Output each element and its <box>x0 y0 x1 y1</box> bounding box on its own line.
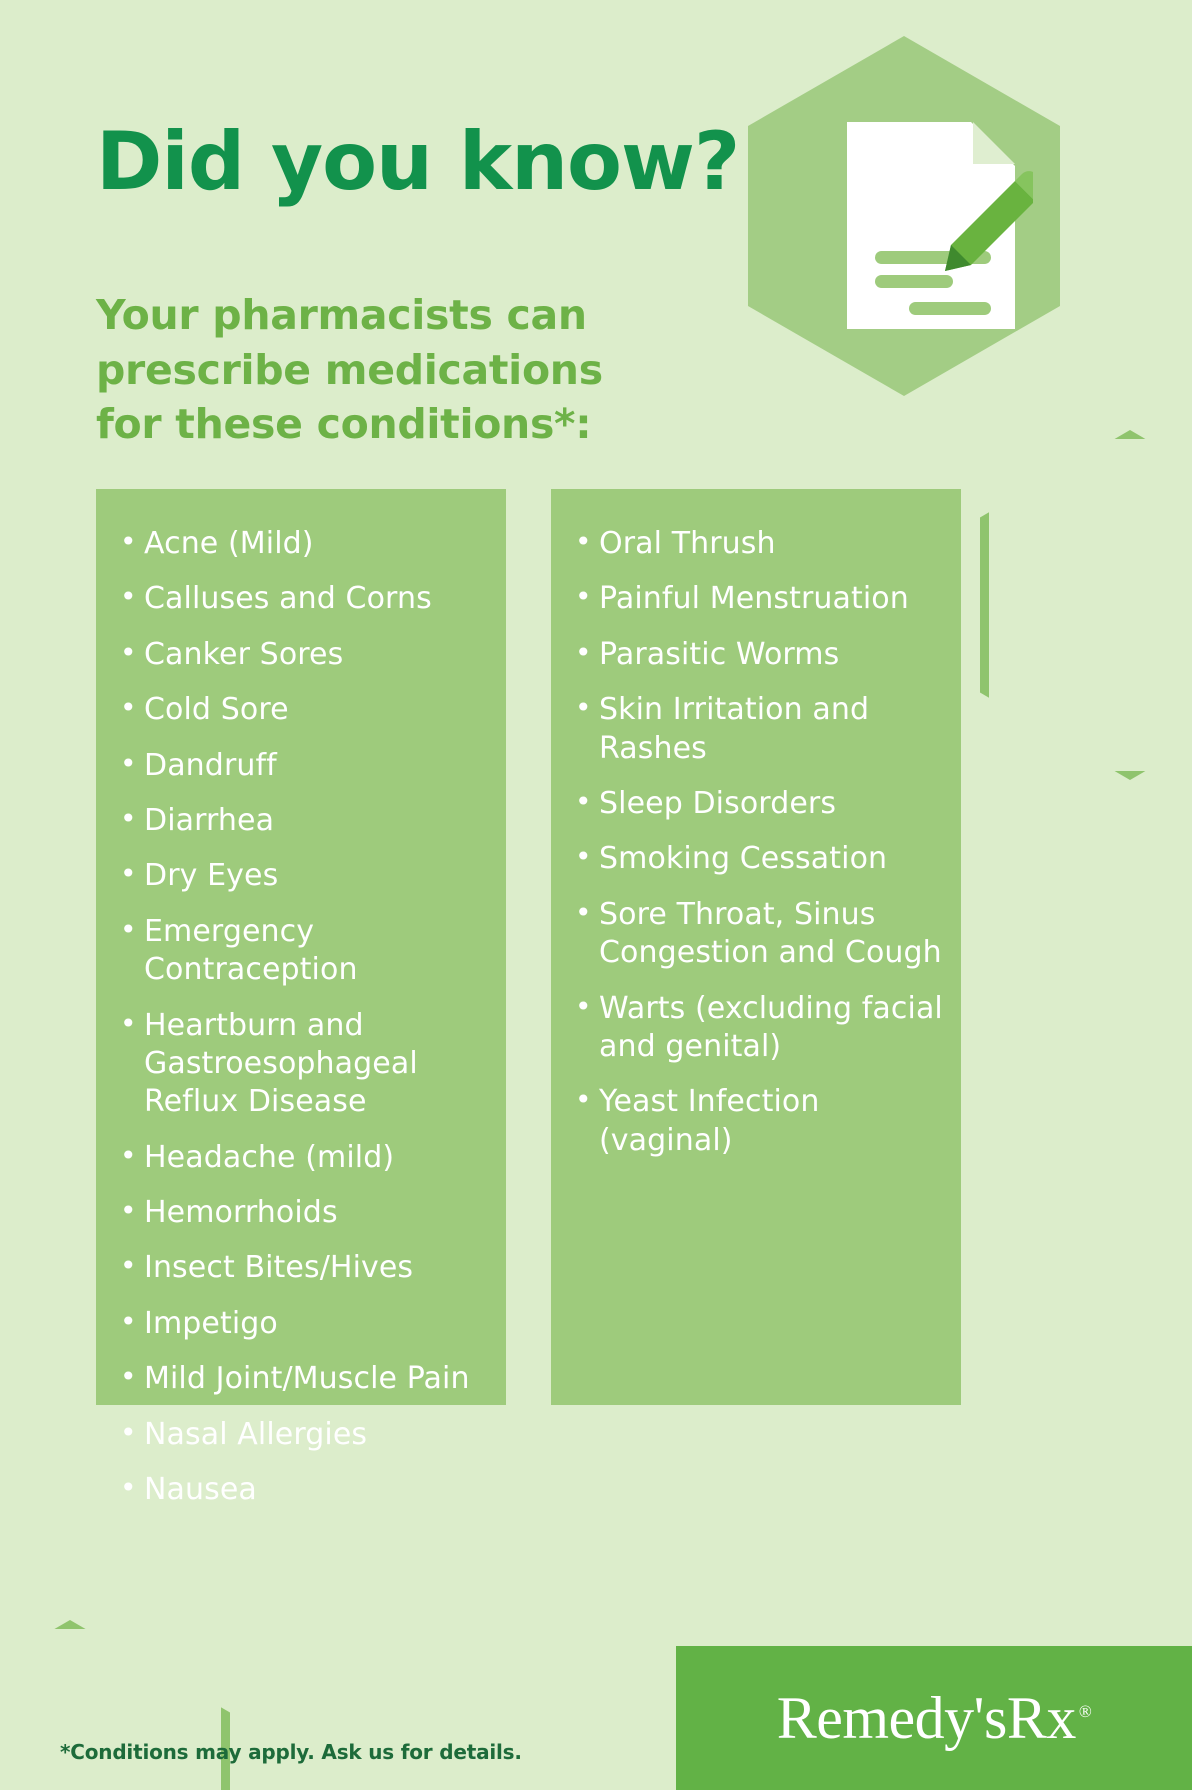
condition-item: Diarrhea <box>114 802 488 840</box>
condition-item: Mild Joint/Muscle Pain <box>114 1360 488 1398</box>
condition-item: Cold Sore <box>114 691 488 729</box>
condition-item: Painful Menstruation <box>569 580 943 618</box>
condition-item: Oral Thrush <box>569 525 943 563</box>
condition-item: Warts (excluding facial and genital) <box>569 990 943 1067</box>
condition-item: Canker Sores <box>114 636 488 674</box>
page-title: Did you know? <box>96 122 739 202</box>
condition-item: Headache (mild) <box>114 1139 488 1177</box>
conditions-card-right: Oral ThrushPainful MenstruationParasitic… <box>551 489 961 1405</box>
conditions-list-right: Oral ThrushPainful MenstruationParasitic… <box>569 525 943 1160</box>
hexagon-outline-bottom-icon <box>0 1620 230 1790</box>
brand-logo-block: Remedy'sRx® <box>676 1646 1192 1790</box>
condition-item: Insect Bites/Hives <box>114 1249 488 1287</box>
conditions-cards: Acne (Mild)Calluses and CornsCanker Sore… <box>96 489 1096 1405</box>
subtitle-line-2: prescribe medications <box>96 343 603 398</box>
conditions-list-left: Acne (Mild)Calluses and CornsCanker Sore… <box>114 525 488 1509</box>
condition-item: Sore Throat, Sinus Congestion and Cough <box>569 896 943 973</box>
condition-item: Heartburn and Gastroesophageal Reflux Di… <box>114 1007 488 1122</box>
condition-item: Nausea <box>114 1471 488 1509</box>
condition-item: Parasitic Worms <box>569 636 943 674</box>
subtitle-line-3: for these conditions*: <box>96 397 603 452</box>
condition-item: Hemorrhoids <box>114 1194 488 1232</box>
rx-prescription-icon <box>843 118 1033 333</box>
condition-item: Sleep Disorders <box>569 785 943 823</box>
condition-item: Yeast Infection (vaginal) <box>569 1083 943 1160</box>
condition-item: Impetigo <box>114 1305 488 1343</box>
condition-item: Calluses and Corns <box>114 580 488 618</box>
poster-root: Did you know? Your pharmacists can presc… <box>0 0 1192 1790</box>
condition-item: Smoking Cessation <box>569 840 943 878</box>
registered-trademark-icon: ® <box>1079 1702 1091 1721</box>
subtitle-line-1: Your pharmacists can <box>96 288 603 343</box>
conditions-card-left: Acne (Mild)Calluses and CornsCanker Sore… <box>96 489 506 1405</box>
condition-item: Skin Irritation and Rashes <box>569 691 943 768</box>
brand-logo-text: Remedy'sRx® <box>777 1684 1092 1753</box>
condition-item: Dry Eyes <box>114 857 488 895</box>
page-subtitle: Your pharmacists can prescribe medicatio… <box>96 288 603 452</box>
footnote: *Conditions may apply. Ask us for detail… <box>60 1740 522 1764</box>
condition-item: Emergency Contraception <box>114 913 488 990</box>
condition-item: Acne (Mild) <box>114 525 488 563</box>
condition-item: Dandruff <box>114 747 488 785</box>
condition-item: Nasal Allergies <box>114 1416 488 1454</box>
brand-logo-name: Remedy'sRx <box>777 1685 1076 1751</box>
